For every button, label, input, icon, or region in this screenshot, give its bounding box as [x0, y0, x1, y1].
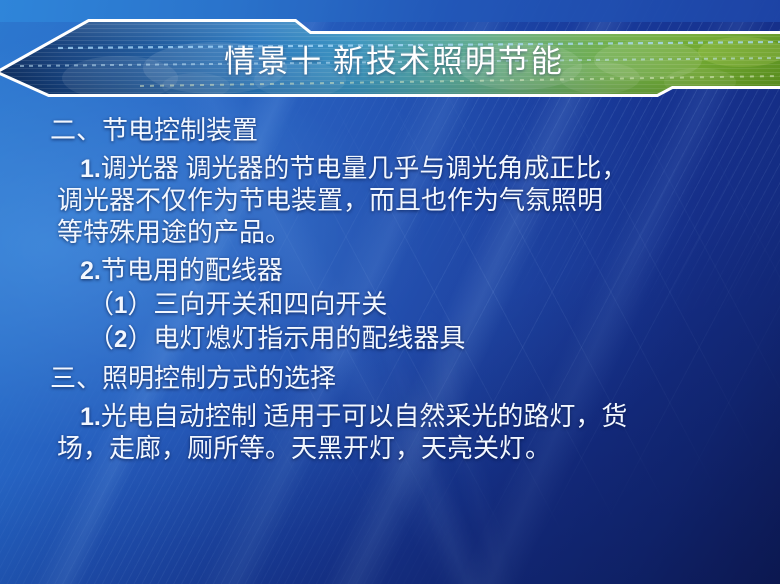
list-marker: 1. — [80, 155, 101, 183]
item-1-dimmer-line3: 等特殊用途的产品。 — [0, 220, 780, 246]
line-text: 调光器 调光器的节电量几乎与调光角成正比， — [101, 154, 628, 183]
line-text: 调光器不仅作为节电装置，而且也作为气氛照明 — [57, 186, 603, 215]
list-marker: 2. — [80, 257, 101, 285]
marker-paren-open: （ — [88, 324, 114, 353]
item-1-dimmer: 1.调光器 调光器的节电量几乎与调光角成正比， — [0, 156, 780, 182]
sub-item-2: （2）电灯熄灯指示用的配线器具 — [0, 326, 780, 352]
line-text: 电灯熄灯指示用的配线器具 — [153, 324, 465, 353]
list-marker: 1 — [114, 292, 127, 319]
section-heading-3: 三、照明控制方式的选择 — [0, 366, 780, 392]
marker-paren-open: （ — [88, 290, 114, 319]
slide-canvas: 情景十 新技术照明节能 二、节电控制装置1.调光器 调光器的节电量几乎与调光角成… — [0, 0, 780, 584]
list-marker: 2 — [114, 326, 127, 353]
line-text: 三、照明控制方式的选择 — [50, 364, 336, 393]
line-text: 节电用的配线器 — [101, 256, 283, 285]
slide-body: 二、节电控制装置1.调光器 调光器的节电量几乎与调光角成正比，调光器不仅作为节电… — [0, 104, 780, 462]
title-banner: 情景十 新技术照明节能 — [0, 8, 780, 108]
sub-item-1: （1）三向开关和四向开关 — [0, 292, 780, 318]
item-1-dimmer-line2: 调光器不仅作为节电装置，而且也作为气氛照明 — [0, 188, 780, 214]
list-marker: 1. — [80, 403, 101, 431]
line-text: 等特殊用途的产品。 — [57, 218, 291, 247]
marker-paren-close: ） — [127, 290, 153, 319]
line-text: 三向开关和四向开关 — [153, 290, 387, 319]
line-text: 场，走廊，厕所等。天黑开灯，天亮关灯。 — [57, 434, 551, 463]
line-text: 二、节电控制装置 — [50, 116, 258, 145]
line-text: 光电自动控制 适用于可以自然采光的路灯，货 — [101, 402, 628, 431]
section-heading-2: 二、节电控制装置 — [0, 118, 780, 144]
item-3-photoelectric: 1.光电自动控制 适用于可以自然采光的路灯，货 — [0, 404, 780, 430]
item-3-photoelectric-line2: 场，走廊，厕所等。天黑开灯，天亮关灯。 — [0, 436, 780, 462]
marker-paren-close: ） — [127, 324, 153, 353]
item-2-wiring: 2.节电用的配线器 — [0, 258, 780, 284]
slide-title: 情景十 新技术照明节能 — [0, 8, 780, 108]
